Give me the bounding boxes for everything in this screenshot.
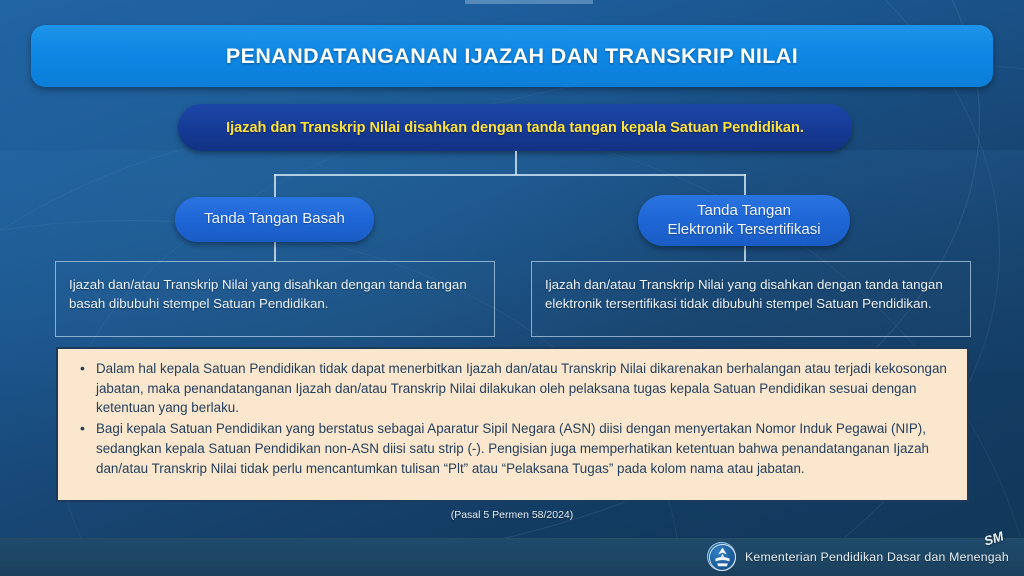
connector-right-to-description [744, 245, 746, 262]
connector-stem [515, 151, 517, 175]
description-box-electronic-signature: Ijazah dan/atau Transkrip Nilai yang dis… [531, 261, 971, 337]
top-edge-strip [465, 0, 593, 4]
tut-wuri-handayani-logo-icon [707, 542, 736, 571]
statement-text: Ijazah dan Transkrip Nilai disahkan deng… [226, 120, 804, 136]
citation-text: (Pasal 5 Permen 58/2024) [0, 509, 1024, 521]
note-item: Bagi kepala Satuan Pendidikan yang berst… [74, 419, 951, 478]
branch-label-electronic-signature: Tanda Tangan Elektronik Tersertifikasi [667, 202, 820, 239]
statement-pill: Ijazah dan Transkrip Nilai disahkan deng… [178, 104, 852, 151]
slide-title-bar: PENANDATANGANAN IJAZAH DAN TRANSKRIP NIL… [31, 25, 993, 87]
footer-brand: Kementerian Pendidikan Dasar dan Menenga… [707, 542, 1009, 571]
description-box-wet-signature: Ijazah dan/atau Transkrip Nilai yang dis… [55, 261, 495, 337]
presentation-slide: PENANDATANGANAN IJAZAH DAN TRANSKRIP NIL… [0, 0, 1024, 576]
connector-horizontal-bar [274, 174, 746, 176]
connector-drop-left [274, 174, 276, 198]
branch-pill-electronic-signature: Tanda Tangan Elektronik Tersertifikasi [638, 195, 850, 246]
connector-drop-right [744, 174, 746, 196]
note-item: Dalam hal kepala Satuan Pendidikan tidak… [74, 359, 951, 418]
slide-title: PENANDATANGANAN IJAZAH DAN TRANSKRIP NIL… [226, 44, 798, 69]
connector-left-to-description [274, 241, 276, 262]
branch-pill-wet-signature: Tanda Tangan Basah [175, 197, 374, 242]
description-text-electronic-signature: Ijazah dan/atau Transkrip Nilai yang dis… [545, 276, 957, 314]
notes-panel: Dalam hal kepala Satuan Pendidikan tidak… [56, 347, 969, 502]
footer-brand-label: Kementerian Pendidikan Dasar dan Menenga… [745, 550, 1009, 564]
description-text-wet-signature: Ijazah dan/atau Transkrip Nilai yang dis… [69, 276, 481, 314]
notes-list: Dalam hal kepala Satuan Pendidikan tidak… [74, 359, 951, 478]
background-glow-band [0, 150, 1024, 370]
branch-label-wet-signature: Tanda Tangan Basah [204, 210, 345, 228]
